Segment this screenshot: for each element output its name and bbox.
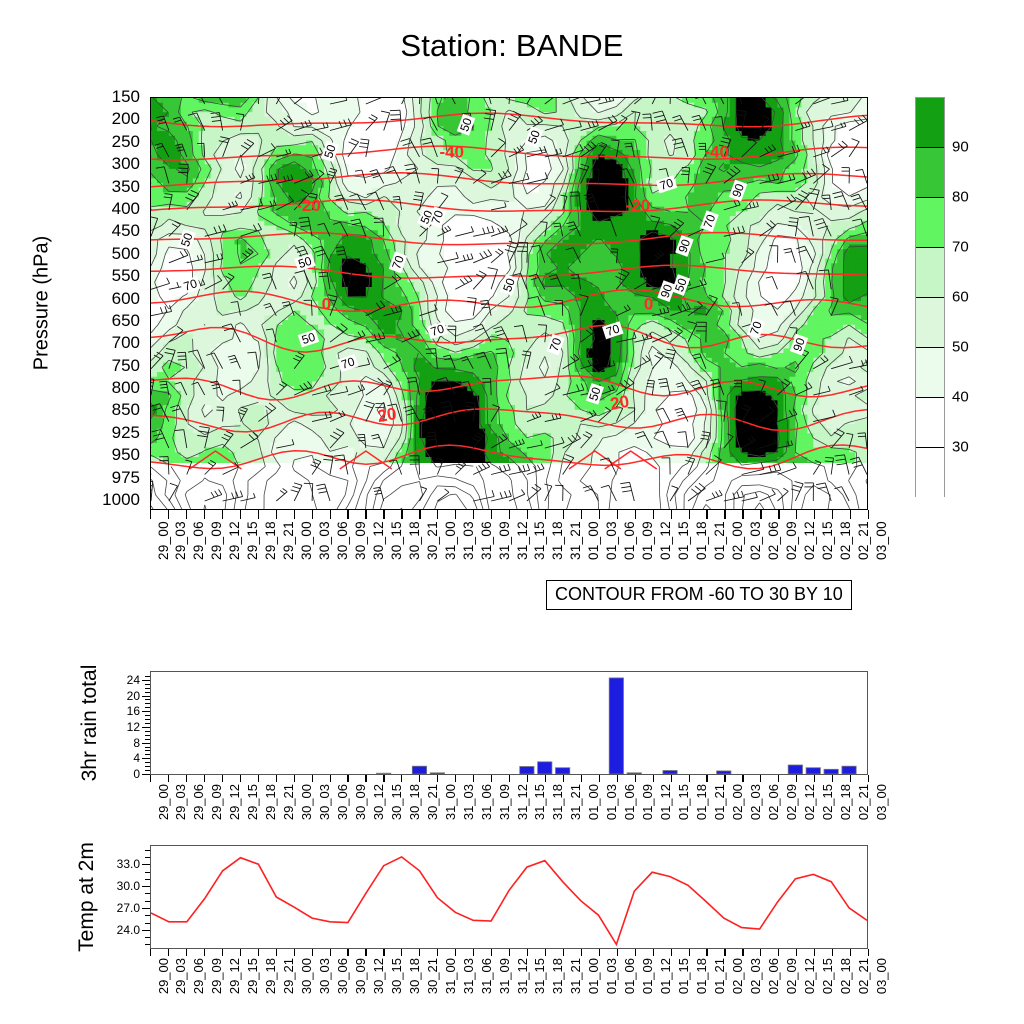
- time-label-temp: 31_18: [550, 958, 565, 994]
- time-tick: [742, 510, 743, 519]
- time-tick: [563, 949, 564, 956]
- time-label-temp: 31_06: [479, 958, 494, 994]
- time-label-rain: 02_12: [802, 784, 817, 820]
- time-label-main: 31_18: [550, 521, 565, 560]
- time-label-rain: 01_21: [712, 784, 727, 820]
- time-tick: [312, 949, 313, 956]
- colorbar-tick-label: 50: [952, 339, 969, 356]
- colorbar-segment: [916, 298, 944, 348]
- colorbar-segment: [916, 198, 944, 248]
- time-label-temp: 02_18: [838, 958, 853, 994]
- time-label-rain: 30_12: [371, 784, 386, 820]
- temp-canvas: [151, 846, 867, 948]
- time-label-rain: 29_15: [245, 784, 260, 820]
- temp-tick: [142, 908, 150, 909]
- time-tick: [383, 775, 384, 782]
- time-label-rain: 01_09: [640, 784, 655, 820]
- time-tick: [437, 949, 438, 956]
- time-label-temp: 29_03: [173, 958, 188, 994]
- time-tick: [168, 775, 169, 782]
- time-label-temp: 31_15: [532, 958, 547, 994]
- time-label-temp: 29_18: [263, 958, 278, 994]
- time-label-main: 31_15: [532, 521, 547, 560]
- time-tick: [204, 949, 205, 956]
- time-tick: [760, 775, 761, 782]
- time-tick: [689, 949, 690, 956]
- time-label-temp: 01_18: [694, 958, 709, 994]
- time-tick: [258, 775, 259, 782]
- time-label-temp: 31_12: [515, 958, 530, 994]
- time-tick: [832, 775, 833, 782]
- time-label-main: 29_18: [263, 521, 278, 560]
- time-tick: [473, 775, 474, 782]
- time-label-main: 02_06: [766, 521, 781, 560]
- time-label-rain: 30_18: [407, 784, 422, 820]
- colorbar-segment: [916, 348, 944, 398]
- time-tick: [724, 510, 725, 519]
- time-tick: [186, 775, 187, 782]
- time-axis-ticks-rain: [150, 775, 868, 783]
- humidity-colorbar: [915, 97, 945, 497]
- time-tick: [240, 949, 241, 956]
- time-label-temp: 02_03: [748, 958, 763, 994]
- time-label-rain: 01_12: [658, 784, 673, 820]
- time-label-rain: 01_00: [586, 784, 601, 820]
- time-tick: [850, 775, 851, 782]
- time-axis-ticks-main: [150, 510, 868, 520]
- time-label-temp: 01_03: [604, 958, 619, 994]
- rain-tick: [142, 758, 150, 759]
- pressure-tick-label: 250: [112, 132, 140, 152]
- time-label-rain: 30_03: [317, 784, 332, 820]
- time-tick: [258, 949, 259, 956]
- time-label-main: 29_15: [245, 521, 260, 560]
- time-tick: [563, 510, 564, 519]
- time-label-rain: 29_18: [263, 784, 278, 820]
- rain-bar: [538, 762, 552, 774]
- time-label-rain: 31_06: [479, 784, 494, 820]
- contour-label: -20: [626, 196, 651, 215]
- time-tick: [509, 775, 510, 782]
- time-label-main: 02_21: [856, 521, 871, 560]
- rain-bar: [717, 771, 731, 774]
- weather-sounding-page: Station: BANDE Pressure (hPa) 1502002503…: [0, 0, 1024, 1024]
- time-tick: [312, 775, 313, 782]
- time-tick: [706, 510, 707, 519]
- time-tick: [222, 510, 223, 519]
- pressure-axis-labels: 1502002503003504004505005506006507007508…: [0, 97, 148, 510]
- time-tick: [796, 775, 797, 782]
- pressure-tick-label: 750: [112, 356, 140, 376]
- time-label-rain: 31_09: [497, 784, 512, 820]
- time-label-temp: 02_06: [766, 958, 781, 994]
- time-label-rain: 01_03: [604, 784, 619, 820]
- time-label-temp: 30_09: [353, 958, 368, 994]
- time-label-rain: 29_09: [209, 784, 224, 820]
- pressure-tick-label: 500: [112, 244, 140, 264]
- time-tick: [563, 775, 564, 782]
- time-label-temp: 30_18: [407, 958, 422, 994]
- time-tick: [868, 949, 869, 956]
- time-label-rain: 02_00: [730, 784, 745, 820]
- rain-tick-label: 4: [133, 751, 140, 765]
- time-tick: [635, 510, 636, 519]
- time-tick: [473, 510, 474, 519]
- time-label-temp: 31_21: [568, 958, 583, 994]
- rain-bar: [609, 678, 623, 774]
- time-tick: [671, 949, 672, 956]
- time-tick: [635, 775, 636, 782]
- time-tick: [545, 510, 546, 519]
- time-tick: [491, 775, 492, 782]
- time-label-rain: 31_18: [550, 784, 565, 820]
- time-tick: [832, 949, 833, 956]
- time-tick: [689, 510, 690, 519]
- colorbar-tick-label: 70: [952, 239, 969, 256]
- rain-bar: [824, 769, 838, 774]
- pressure-tick-label: 350: [112, 177, 140, 197]
- time-tick: [742, 775, 743, 782]
- time-tick: [617, 949, 618, 956]
- time-tick: [509, 510, 510, 519]
- time-label-rain: 29_21: [281, 784, 296, 820]
- time-label-temp: 01_21: [712, 958, 727, 994]
- colorbar-tick-label: 80: [952, 189, 969, 206]
- pressure-tick-label: 800: [112, 378, 140, 398]
- time-label-main: 30_12: [371, 521, 386, 560]
- time-label-temp: 03_00: [874, 958, 889, 994]
- time-label-rain: 29_06: [191, 784, 206, 820]
- rain-tick-label: 8: [133, 736, 140, 750]
- time-label-main: 29_00: [156, 521, 171, 560]
- rain-tick-label: 20: [127, 689, 140, 703]
- contour-label: 0: [644, 295, 653, 314]
- time-tick: [653, 510, 654, 519]
- time-label-main: 01_21: [712, 521, 727, 560]
- rain-tick: [142, 680, 150, 681]
- time-tick: [473, 949, 474, 956]
- time-label-rain: 30_09: [353, 784, 368, 820]
- time-label-main: 01_06: [622, 521, 637, 560]
- pressure-tick-label: 400: [112, 199, 140, 219]
- time-label-main: 29_09: [209, 521, 224, 560]
- time-tick: [635, 949, 636, 956]
- time-label-rain: 01_15: [676, 784, 691, 820]
- time-label-main: 31_12: [515, 521, 530, 560]
- rain-tick-label: 0: [133, 767, 140, 781]
- temp-tick-label: 30.0: [117, 879, 140, 893]
- rain-tick: [142, 727, 150, 728]
- time-tick: [706, 775, 707, 782]
- time-tick: [455, 775, 456, 782]
- time-label-rain: 31_12: [515, 784, 530, 820]
- time-tick: [276, 775, 277, 782]
- rain-bar: [412, 766, 426, 774]
- time-tick: [150, 775, 151, 782]
- time-label-main: 02_03: [748, 521, 763, 560]
- time-label-rain: 02_03: [748, 784, 763, 820]
- time-tick: [222, 949, 223, 956]
- time-label-rain: 31_00: [443, 784, 458, 820]
- time-label-temp: 31_03: [461, 958, 476, 994]
- time-label-temp: 02_09: [784, 958, 799, 994]
- pressure-tick-label: 925: [112, 423, 140, 443]
- time-label-main: 31_09: [497, 521, 512, 560]
- time-tick: [689, 775, 690, 782]
- time-label-rain: 02_21: [856, 784, 871, 820]
- temp-tick: [142, 930, 150, 931]
- time-tick: [401, 949, 402, 956]
- time-tick: [383, 949, 384, 956]
- temperature-line-chart: [150, 845, 868, 949]
- rain-tick: [142, 774, 150, 775]
- time-tick: [778, 775, 779, 782]
- time-tick: [796, 510, 797, 519]
- colorbar-segment: [916, 148, 944, 198]
- rain-canvas: [151, 672, 867, 774]
- time-axis-labels-temp: 29_0029_0329_0629_0929_1229_1529_1829_21…: [150, 958, 868, 1016]
- time-tick: [276, 510, 277, 519]
- time-tick: [437, 775, 438, 782]
- time-label-temp: 02_15: [820, 958, 835, 994]
- time-axis-labels-main: 29_0029_0329_0629_0929_1229_1529_1829_21…: [150, 521, 868, 583]
- colorbar-segment: [916, 248, 944, 298]
- time-label-main: 31_06: [479, 521, 494, 560]
- time-tick: [778, 949, 779, 956]
- time-label-temp: 31_09: [497, 958, 512, 994]
- pressure-tick-label: 150: [112, 87, 140, 107]
- time-label-main: 29_21: [281, 521, 296, 560]
- time-label-temp: 30_21: [425, 958, 440, 994]
- pressure-tick-label: 550: [112, 266, 140, 286]
- time-label-temp: 01_09: [640, 958, 655, 994]
- time-label-main: 01_12: [658, 521, 673, 560]
- time-tick: [240, 775, 241, 782]
- time-label-main: 30_03: [317, 521, 332, 560]
- colorbar-segment: [916, 398, 944, 448]
- rain-tick-label: 24: [127, 673, 140, 687]
- time-label-main: 01_09: [640, 521, 655, 560]
- time-tick: [509, 949, 510, 956]
- time-label-rain: 29_03: [173, 784, 188, 820]
- rain-tick: [142, 711, 150, 712]
- humidity-cross-section-plot: -40-40-20-200020205050505050505050505070…: [150, 97, 868, 510]
- rain-tick-label: 16: [127, 704, 140, 718]
- time-tick: [814, 775, 815, 782]
- pressure-tick-label: 850: [112, 400, 140, 420]
- time-tick: [617, 510, 618, 519]
- time-tick: [276, 949, 277, 956]
- time-label-main: 02_12: [802, 521, 817, 560]
- time-label-main: 01_03: [604, 521, 619, 560]
- time-label-rain: 03_00: [874, 784, 889, 820]
- time-label-temp: 02_12: [802, 958, 817, 994]
- time-label-main: 01_15: [676, 521, 691, 560]
- time-tick: [545, 775, 546, 782]
- time-label-temp: 30_03: [317, 958, 332, 994]
- time-label-main: 02_18: [838, 521, 853, 560]
- time-tick: [258, 510, 259, 519]
- time-tick: [150, 949, 151, 956]
- pressure-tick-label: 700: [112, 333, 140, 353]
- pressure-tick-label: 1000: [102, 490, 140, 510]
- contour-label: 20: [376, 404, 398, 426]
- time-label-rain: 02_06: [766, 784, 781, 820]
- time-label-main: 02_00: [730, 521, 745, 560]
- time-label-main: 01_00: [586, 521, 601, 560]
- time-label-temp: 31_00: [443, 958, 458, 994]
- temp-axis-title: Temp at 2m: [75, 792, 99, 1002]
- temp-tick-label: 33.0: [117, 857, 140, 871]
- time-label-main: 30_06: [335, 521, 350, 560]
- time-label-rain: 31_15: [532, 784, 547, 820]
- time-tick: [868, 775, 869, 782]
- contour-note: CONTOUR FROM -60 TO 30 BY 10: [546, 580, 852, 610]
- time-tick: [814, 510, 815, 519]
- time-tick: [491, 949, 492, 956]
- time-tick: [527, 510, 528, 519]
- time-label-temp: 29_15: [245, 958, 260, 994]
- time-label-temp: 01_06: [622, 958, 637, 994]
- time-tick: [455, 949, 456, 956]
- time-tick: [294, 775, 295, 782]
- time-label-temp: 29_09: [209, 958, 224, 994]
- time-tick: [330, 775, 331, 782]
- time-label-main: 03_00: [874, 521, 889, 560]
- time-tick: [653, 949, 654, 956]
- time-label-temp: 29_06: [191, 958, 206, 994]
- time-tick: [581, 949, 582, 956]
- time-label-main: 30_15: [389, 521, 404, 560]
- time-label-main: 30_18: [407, 521, 422, 560]
- time-tick: [437, 510, 438, 519]
- time-label-temp: 30_06: [335, 958, 350, 994]
- time-tick: [617, 775, 618, 782]
- time-label-main: 29_06: [191, 521, 206, 560]
- time-label-rain: 02_15: [820, 784, 835, 820]
- time-axis-labels-rain: 29_0029_0329_0629_0929_1229_1529_1829_21…: [150, 784, 868, 842]
- time-label-rain: 01_18: [694, 784, 709, 820]
- contour-label: -20: [296, 196, 321, 215]
- time-tick: [419, 510, 420, 519]
- time-label-main: 02_15: [820, 521, 835, 560]
- time-label-rain: 01_06: [622, 784, 637, 820]
- time-tick: [330, 510, 331, 519]
- time-tick: [653, 775, 654, 782]
- time-label-temp: 01_15: [676, 958, 691, 994]
- time-label-temp: 29_21: [281, 958, 296, 994]
- rain-bar: [377, 773, 391, 774]
- rain-bar-chart: [150, 671, 868, 775]
- time-tick: [347, 775, 348, 782]
- rain-bar: [788, 765, 802, 774]
- pressure-tick-label: 650: [112, 311, 140, 331]
- time-tick: [581, 775, 582, 782]
- time-label-main: 30_21: [425, 521, 440, 560]
- pressure-tick-label: 200: [112, 109, 140, 129]
- time-tick: [365, 949, 366, 956]
- time-tick: [347, 510, 348, 519]
- time-label-temp: 02_00: [730, 958, 745, 994]
- time-tick: [204, 775, 205, 782]
- time-label-rain: 30_00: [299, 784, 314, 820]
- time-tick: [724, 775, 725, 782]
- time-label-main: 31_21: [568, 521, 583, 560]
- page-title: Station: BANDE: [0, 28, 1024, 64]
- rain-bar: [430, 773, 444, 774]
- time-tick: [294, 510, 295, 519]
- time-label-rain: 31_21: [568, 784, 583, 820]
- time-tick: [814, 949, 815, 956]
- time-label-rain: 29_00: [156, 784, 171, 820]
- time-tick: [330, 949, 331, 956]
- colorbar-segment: [916, 98, 944, 148]
- pressure-tick-label: 975: [112, 468, 140, 488]
- time-tick: [599, 775, 600, 782]
- time-tick: [760, 949, 761, 956]
- time-label-rain: 31_03: [461, 784, 476, 820]
- time-tick: [365, 775, 366, 782]
- time-tick: [455, 510, 456, 519]
- time-label-temp: 02_21: [856, 958, 871, 994]
- time-tick: [419, 949, 420, 956]
- time-tick: [671, 510, 672, 519]
- time-tick: [527, 949, 528, 956]
- time-label-rain: 30_21: [425, 784, 440, 820]
- time-label-rain: 02_18: [838, 784, 853, 820]
- colorbar-tick-label: 30: [952, 439, 969, 456]
- time-tick: [401, 510, 402, 519]
- time-tick: [796, 949, 797, 956]
- time-tick: [186, 949, 187, 956]
- time-tick: [204, 510, 205, 519]
- time-label-temp: 01_12: [658, 958, 673, 994]
- rain-bar: [520, 767, 534, 775]
- time-label-main: 30_00: [299, 521, 314, 560]
- time-tick: [491, 510, 492, 519]
- colorbar-tick-label: 40: [952, 389, 969, 406]
- rain-bar: [627, 773, 641, 774]
- pressure-tick-label: 600: [112, 289, 140, 309]
- rain-tick-label: 12: [127, 720, 140, 734]
- time-label-temp: 30_00: [299, 958, 314, 994]
- time-tick: [186, 510, 187, 519]
- rain-bar: [663, 771, 677, 775]
- time-label-main: 29_12: [227, 521, 242, 560]
- time-tick: [222, 775, 223, 782]
- contour-label: 20: [609, 392, 631, 414]
- time-label-temp: 29_12: [227, 958, 242, 994]
- colorbar-tick-label: 60: [952, 289, 969, 306]
- time-tick: [724, 949, 725, 956]
- cross-section-canvas: -40-40-20-200020205050505050505050505070…: [151, 98, 867, 509]
- time-label-main: 30_09: [353, 521, 368, 560]
- time-tick: [527, 775, 528, 782]
- temp-tick-label: 27.0: [117, 901, 140, 915]
- time-tick: [545, 949, 546, 956]
- time-tick: [778, 510, 779, 519]
- time-tick: [599, 949, 600, 956]
- time-tick: [760, 510, 761, 519]
- time-tick: [401, 775, 402, 782]
- time-tick: [599, 510, 600, 519]
- time-tick: [150, 510, 151, 519]
- time-tick: [671, 775, 672, 782]
- time-label-main: 29_03: [173, 521, 188, 560]
- time-tick: [706, 949, 707, 956]
- time-label-rain: 30_15: [389, 784, 404, 820]
- time-tick: [419, 775, 420, 782]
